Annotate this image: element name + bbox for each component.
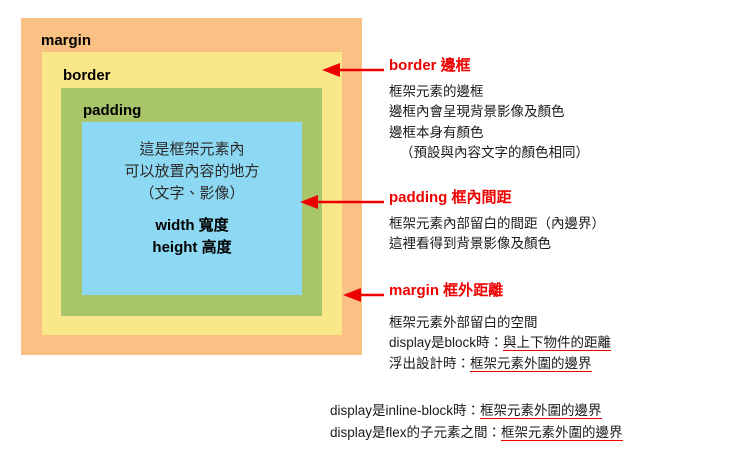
- annotation-padding-line-1: 框架元素內部留白的間距（內邊界）: [389, 214, 605, 235]
- annotation-margin-line-3-underlined: 框架元素外圍的邊界: [470, 356, 592, 372]
- margin-layer: margin border padding 這是框架元素內 可以放置內容的地方 …: [21, 18, 362, 355]
- annotation-padding: padding 框內間距 框架元素內部留白的間距（內邊界） 這裡看得到背景影像及…: [389, 190, 605, 255]
- annotation-padding-heading: padding 框內間距: [389, 190, 605, 207]
- annotation-border: border 邊框 框架元素的邊框 邊框內會呈現背景影像及顏色 邊框本身有顏色 …: [389, 58, 589, 164]
- content-line-1: 這是框架元素內: [139, 139, 244, 161]
- annotation-extra-line-1-text: display是inline-block時：: [330, 403, 480, 418]
- annotation-margin-line-3: 浮出設計時：框架元素外圍的邊界: [389, 354, 611, 375]
- padding-layer: padding 這是框架元素內 可以放置內容的地方 （文字、影像） width …: [61, 88, 322, 316]
- annotation-extra-line-2-underlined: 框架元素外圍的邊界: [501, 425, 623, 441]
- annotation-margin-line-2: display是block時：與上下物件的距離: [389, 333, 611, 354]
- content-line-3: （文字、影像）: [139, 183, 244, 205]
- annotation-extra-line-1-underlined: 框架元素外圍的邊界: [480, 403, 602, 419]
- annotation-border-line-2: 邊框內會呈現背景影像及顏色: [389, 102, 589, 123]
- annotation-border-line-1: 框架元素的邊框: [389, 82, 589, 103]
- annotation-extra-line-2-text: display是flex的子元素之間：: [330, 425, 501, 440]
- annotation-margin-line-1-text: 框架元素外部留白的空間: [389, 315, 538, 330]
- annotation-border-heading: border 邊框: [389, 58, 589, 75]
- annotation-padding-line-2: 這裡看得到背景影像及顏色: [389, 234, 605, 255]
- annotation-margin-heading: margin 框外距離: [389, 283, 611, 300]
- annotation-extra-line-1: display是inline-block時：框架元素外圍的邊界: [330, 400, 623, 422]
- content-width-label: width 寬度: [155, 215, 228, 237]
- box-model-diagram: margin border padding 這是框架元素內 可以放置內容的地方 …: [21, 18, 362, 355]
- annotation-margin: margin 框外距離 框架元素外部留白的空間 display是block時：與…: [389, 283, 611, 374]
- annotation-margin-line-3-text: 浮出設計時：: [389, 356, 470, 371]
- annotation-margin-line-2-text: display是block時：: [389, 335, 503, 350]
- annotation-extra: display是inline-block時：框架元素外圍的邊界 display是…: [330, 400, 623, 443]
- content-layer: 這是框架元素內 可以放置內容的地方 （文字、影像） width 寬度 heigh…: [82, 122, 302, 295]
- annotation-margin-line-2-underlined: 與上下物件的距離: [503, 335, 611, 351]
- border-layer-label: border: [63, 68, 111, 83]
- content-height-label: height 高度: [152, 237, 231, 259]
- annotation-border-line-3: 邊框本身有顏色: [389, 123, 589, 144]
- margin-layer-label: margin: [41, 33, 91, 48]
- border-layer: border padding 這是框架元素內 可以放置內容的地方 （文字、影像）…: [42, 52, 342, 335]
- content-line-2: 可以放置內容的地方: [124, 161, 259, 183]
- padding-layer-label: padding: [83, 103, 141, 118]
- annotation-border-line-4: （預設與內容文字的顏色相同）: [389, 143, 589, 164]
- annotation-margin-line-1: 框架元素外部留白的空間: [389, 313, 611, 334]
- annotation-extra-line-2: display是flex的子元素之間：框架元素外圍的邊界: [330, 422, 623, 444]
